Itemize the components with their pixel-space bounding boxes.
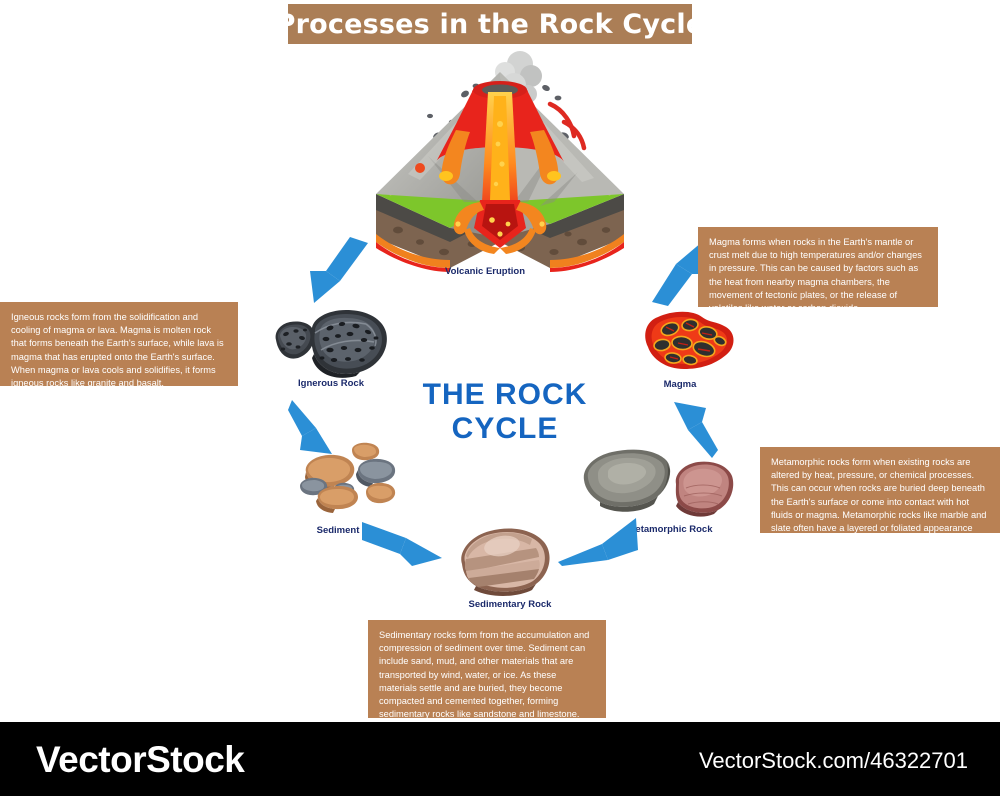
watermark-footer: VectorStock VectorStock.com/46322701 [0,722,1000,796]
node-label-sedimentary-rock: Sedimentary Rock [435,599,585,610]
arrow-volcanic-to-igneous [306,237,376,307]
sedimentary-info-box: Sedimentary rocks form from the accumula… [368,620,606,718]
magma-illustration [640,303,740,375]
page-title-bar: Processes in the Rock Cycle [288,4,692,44]
rock-cycle-infographic: Processes in the Rock Cycle [0,0,1000,796]
vectorstock-logo: VectorStock [36,739,244,781]
arrow-igneous-to-sediment [288,398,344,458]
node-label-magma: Magma [630,379,730,390]
page-title: Processes in the Rock Cycle [276,9,705,40]
volcanic-eruption-illustration [368,52,633,267]
arrow-sediment-to-sedimentary [362,516,448,568]
igneous-info-box: Igneous rocks form from the solidificati… [0,302,238,386]
igneous-rock-illustration [272,306,390,378]
vectorstock-url: VectorStock.com/46322701 [699,748,968,774]
sedimentary-rock-illustration [450,524,560,596]
arrow-metamorphic-to-magma [672,396,728,460]
center-heading: THE ROCK CYCLE [370,378,640,446]
arrow-sedimentary-to-metamorphic [552,510,640,566]
metamorphic-info-box: Metamorphic rocks form when existing roc… [760,447,1000,533]
node-label-volcanic-eruption: Volcanic Eruption [405,266,565,277]
magma-info-box: Magma forms when rocks in the Earth's ma… [698,227,938,307]
